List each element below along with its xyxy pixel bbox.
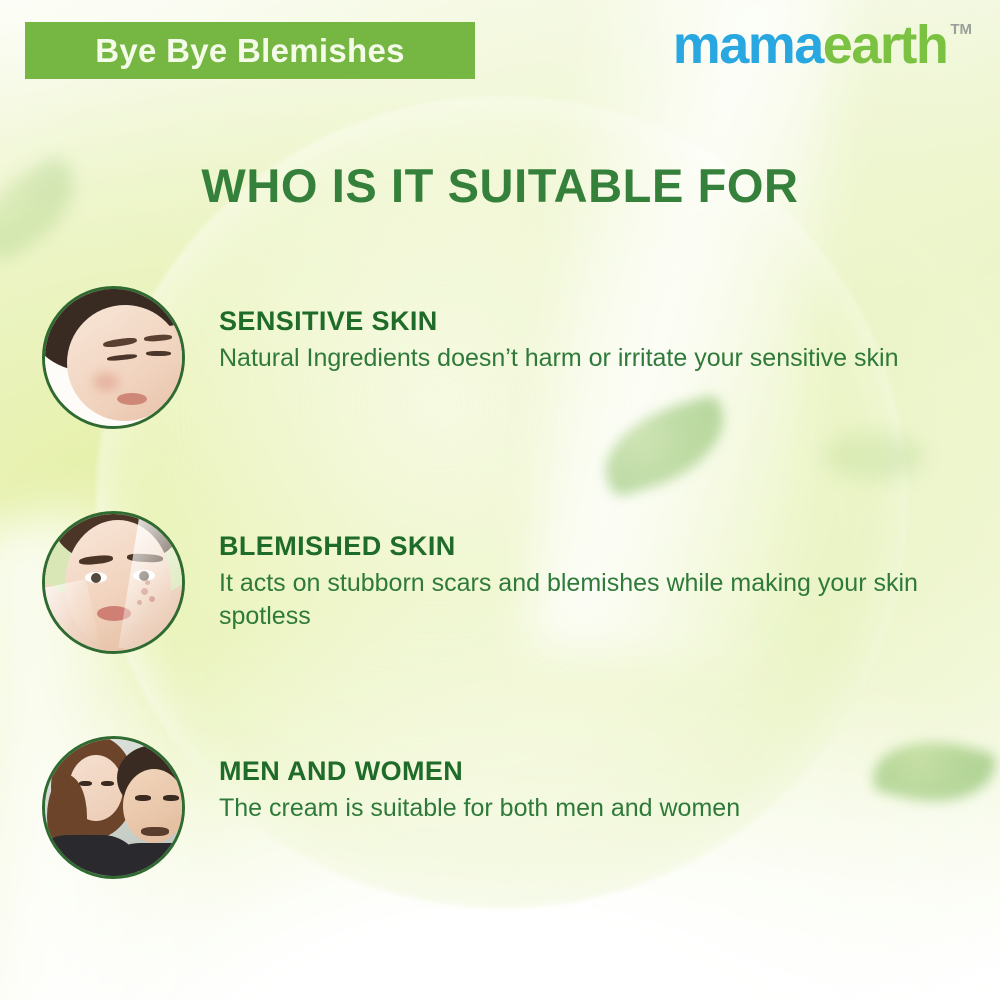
- feature-image-men-and-women: [42, 736, 185, 879]
- feature-text-block: MEN AND WOMEN The cream is suitable for …: [219, 756, 740, 825]
- feature-title: SENSITIVE SKIN: [219, 306, 898, 337]
- feature-title: MEN AND WOMEN: [219, 756, 740, 787]
- list-item: MEN AND WOMEN The cream is suitable for …: [0, 728, 1000, 953]
- list-item: BLEMISHED SKIN It acts on stubborn scars…: [0, 503, 1000, 728]
- logo-text-mama: mama: [673, 18, 823, 72]
- infographic-canvas: Bye Bye Blemishes mama earth TM WHO IS I…: [0, 0, 1000, 1000]
- feature-text-block: BLEMISHED SKIN It acts on stubborn scars…: [219, 531, 959, 632]
- feature-description: Natural Ingredients doesn’t harm or irri…: [219, 342, 898, 375]
- trademark-icon: TM: [950, 22, 972, 37]
- promo-badge-label: Bye Bye Blemishes: [95, 32, 405, 70]
- promo-badge: Bye Bye Blemishes: [25, 22, 475, 79]
- feature-list: SENSITIVE SKIN Natural Ingredients doesn…: [0, 278, 1000, 953]
- feature-image-blemished-skin: [42, 511, 185, 654]
- page-title: WHO IS IT SUITABLE FOR: [0, 158, 1000, 213]
- feature-image-sensitive-skin: [42, 286, 185, 429]
- feature-description: It acts on stubborn scars and blemishes …: [219, 567, 959, 632]
- brand-logo: mama earth TM: [673, 18, 972, 72]
- feature-title: BLEMISHED SKIN: [219, 531, 959, 562]
- feature-description: The cream is suitable for both men and w…: [219, 792, 740, 825]
- logo-text-earth: earth: [823, 18, 948, 72]
- list-item: SENSITIVE SKIN Natural Ingredients doesn…: [0, 278, 1000, 503]
- feature-text-block: SENSITIVE SKIN Natural Ingredients doesn…: [219, 306, 898, 375]
